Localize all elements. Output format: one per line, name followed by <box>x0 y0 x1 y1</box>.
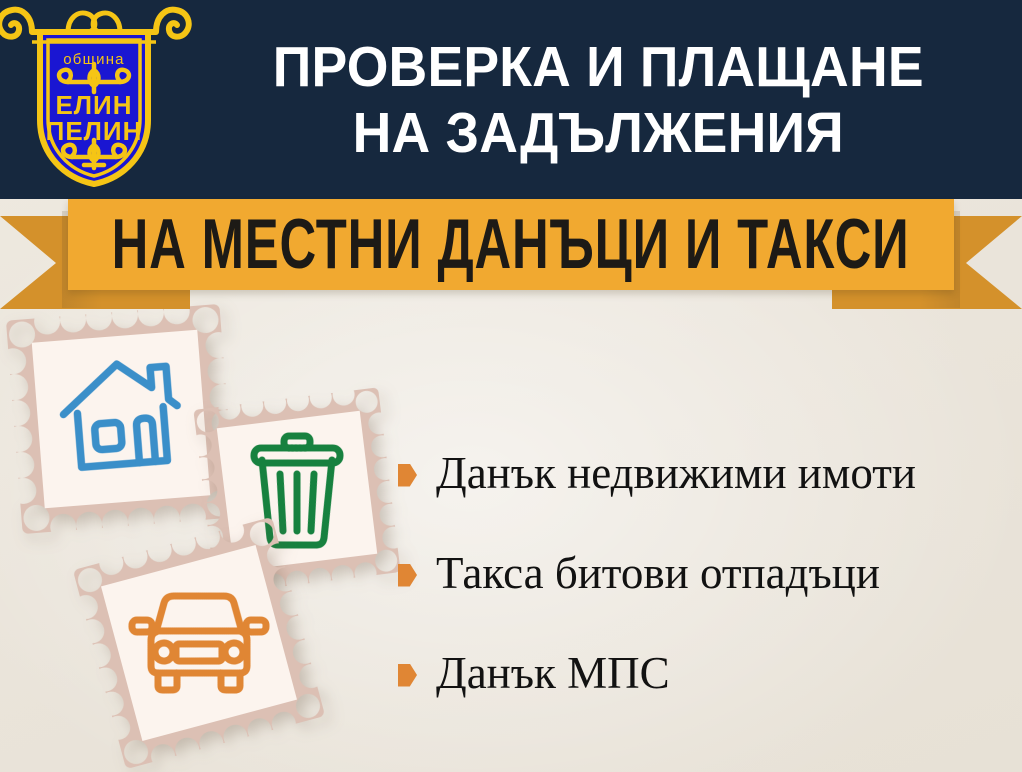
ribbon-main-panel: НА МЕСТНИ ДАНЪЦИ И ТАКСИ <box>68 199 954 290</box>
tax-type-list: Данък недвижими имоти Такса битови отпад… <box>398 424 1018 724</box>
ribbon-banner: НА МЕСТНИ ДАНЪЦИ И ТАКСИ <box>0 199 1022 309</box>
list-item-label: Такса битови отпадъци <box>436 550 880 597</box>
title-line-2: НА ЗАДЪЛЖЕНИЯ <box>352 100 843 166</box>
list-item-label: Данък недвижими имоти <box>436 450 916 497</box>
bullet-arrow-icon <box>398 464 417 487</box>
list-item: Такса битови отпадъци <box>398 524 1018 624</box>
list-item-label: Данък МПС <box>436 650 670 697</box>
list-item: Данък недвижими имоти <box>398 424 1018 524</box>
page-title: ПРОВЕРКА И ПЛАЩАНЕ НА ЗАДЪЛЖЕНИЯ <box>186 14 1010 186</box>
poster-root: община ЕЛИН ПЕЛИН ПРО <box>0 0 1022 772</box>
coat-of-arms-shield-icon: община ЕЛИН ПЕЛИН <box>0 2 192 192</box>
title-line-1: ПРОВЕРКА И ПЛАЩАНЕ <box>273 34 924 100</box>
bullet-arrow-icon <box>398 664 417 687</box>
bullet-arrow-icon <box>398 564 417 587</box>
list-item: Данък МПС <box>398 624 1018 724</box>
ribbon-subtitle: НА МЕСТНИ ДАНЪЦИ И ТАКСИ <box>112 209 910 280</box>
